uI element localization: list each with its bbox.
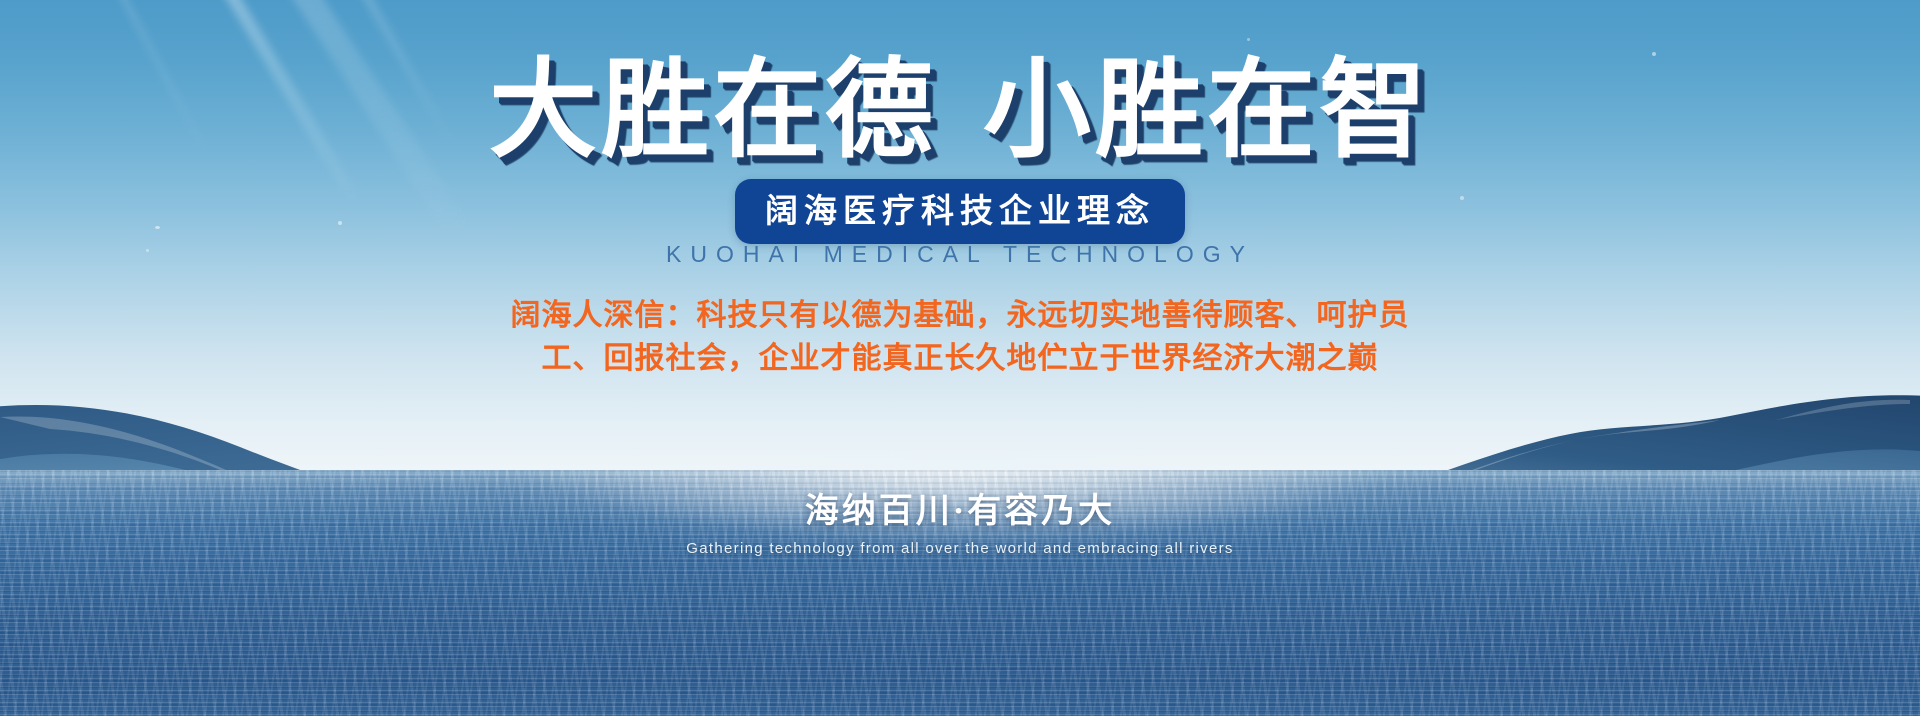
headline-left: 大胜在德 [489,49,937,170]
concept-badge: 阔海医疗科技企业理念 [735,179,1185,244]
headline: 大胜在德小胜在智 [0,52,1920,169]
headline-right: 小胜在智 [983,49,1431,170]
footer-slogan-english: Gathering technology from all over the w… [0,540,1920,557]
hero-banner: 大胜在德小胜在智 阔海医疗科技企业理念 KUOHAI MEDICAL TECHN… [0,0,1920,716]
concept-badge-label: 阔海医疗科技企业理念 [765,192,1155,229]
banner-content: 大胜在德小胜在智 阔海医疗科技企业理念 KUOHAI MEDICAL TECHN… [0,0,1920,716]
statement-line-2: 工、回报社会，企业才能真正长久地伫立于世界经济大潮之巅 [430,338,1490,381]
statement-paragraph: 阔海人深信：科技只有以德为基础，永远切实地善待顾客、呵护员 工、回报社会，企业才… [430,295,1490,380]
footer-slogan: 海纳百川·有容乃大 Gathering technology from all … [0,492,1920,557]
english-subtitle: KUOHAI MEDICAL TECHNOLOGY [0,241,1920,268]
footer-slogan-chinese: 海纳百川·有容乃大 [0,492,1920,533]
statement-line-1: 阔海人深信：科技只有以德为基础，永远切实地善待顾客、呵护员 [430,295,1490,338]
